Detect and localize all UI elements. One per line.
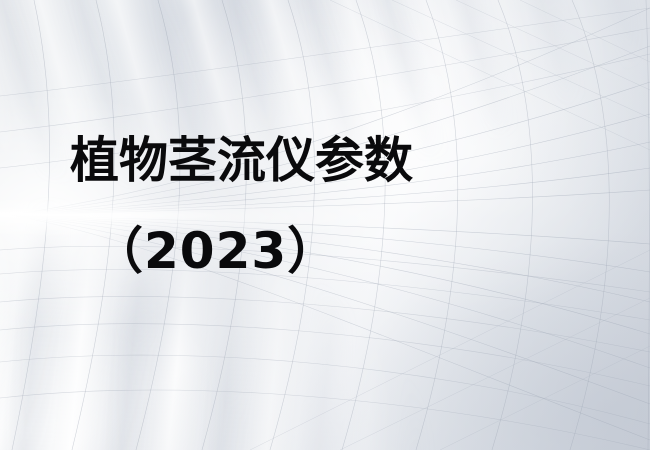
title-slide: 植物茎流仪参数 （2023） [0, 0, 650, 450]
title-block: 植物茎流仪参数 （2023） [0, 0, 650, 450]
slide-title-primary: 植物茎流仪参数 [70, 136, 413, 185]
slide-title-year: （2023） [93, 226, 338, 276]
